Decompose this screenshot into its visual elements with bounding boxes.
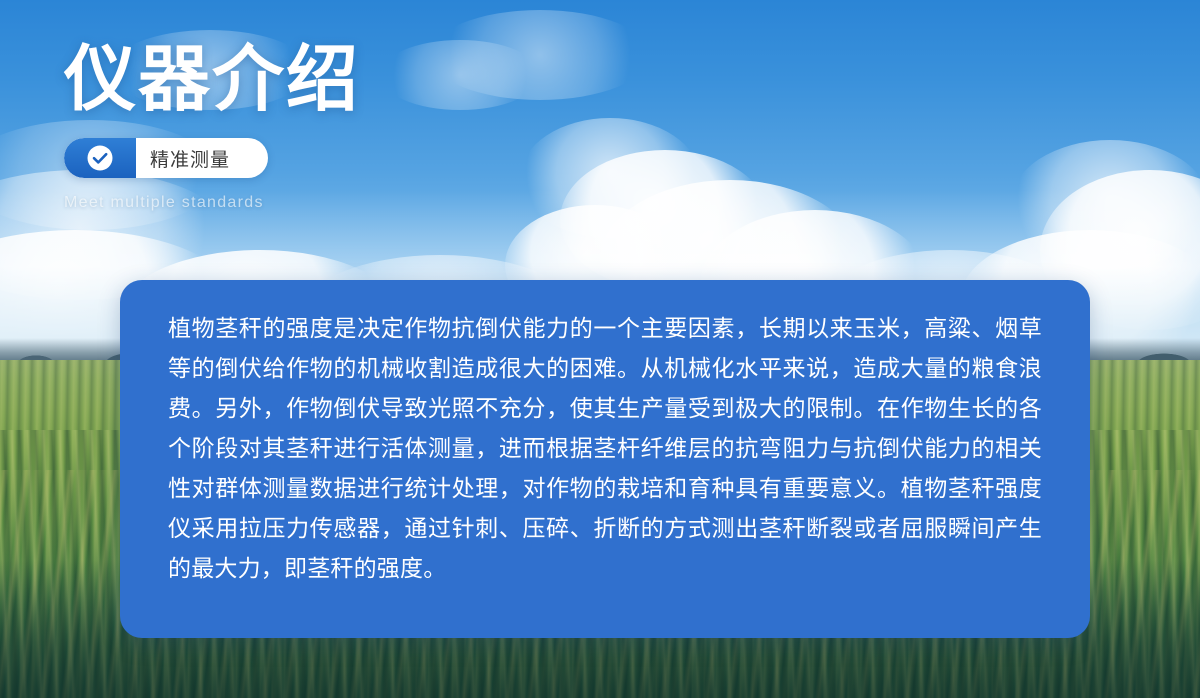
poster-canvas: 仪器介绍 精准测量 Meet multiple standards 植物茎秆的强… (0, 0, 1200, 698)
header-block: 仪器介绍 精准测量 Meet multiple standards (64, 44, 360, 212)
description-card: 植物茎秆的强度是决定作物抗倒伏能力的一个主要因素，长期以来玉米，高粱、烟草等的倒… (120, 280, 1090, 638)
check-circle-icon (64, 138, 136, 178)
header-subtitle: Meet multiple standards (64, 194, 360, 212)
description-text: 植物茎秆的强度是决定作物抗倒伏能力的一个主要因素，长期以来玉米，高粱、烟草等的倒… (168, 308, 1042, 588)
accuracy-badge: 精准测量 (64, 138, 268, 178)
accuracy-badge-label: 精准测量 (136, 138, 268, 178)
page-title: 仪器介绍 (64, 44, 360, 116)
